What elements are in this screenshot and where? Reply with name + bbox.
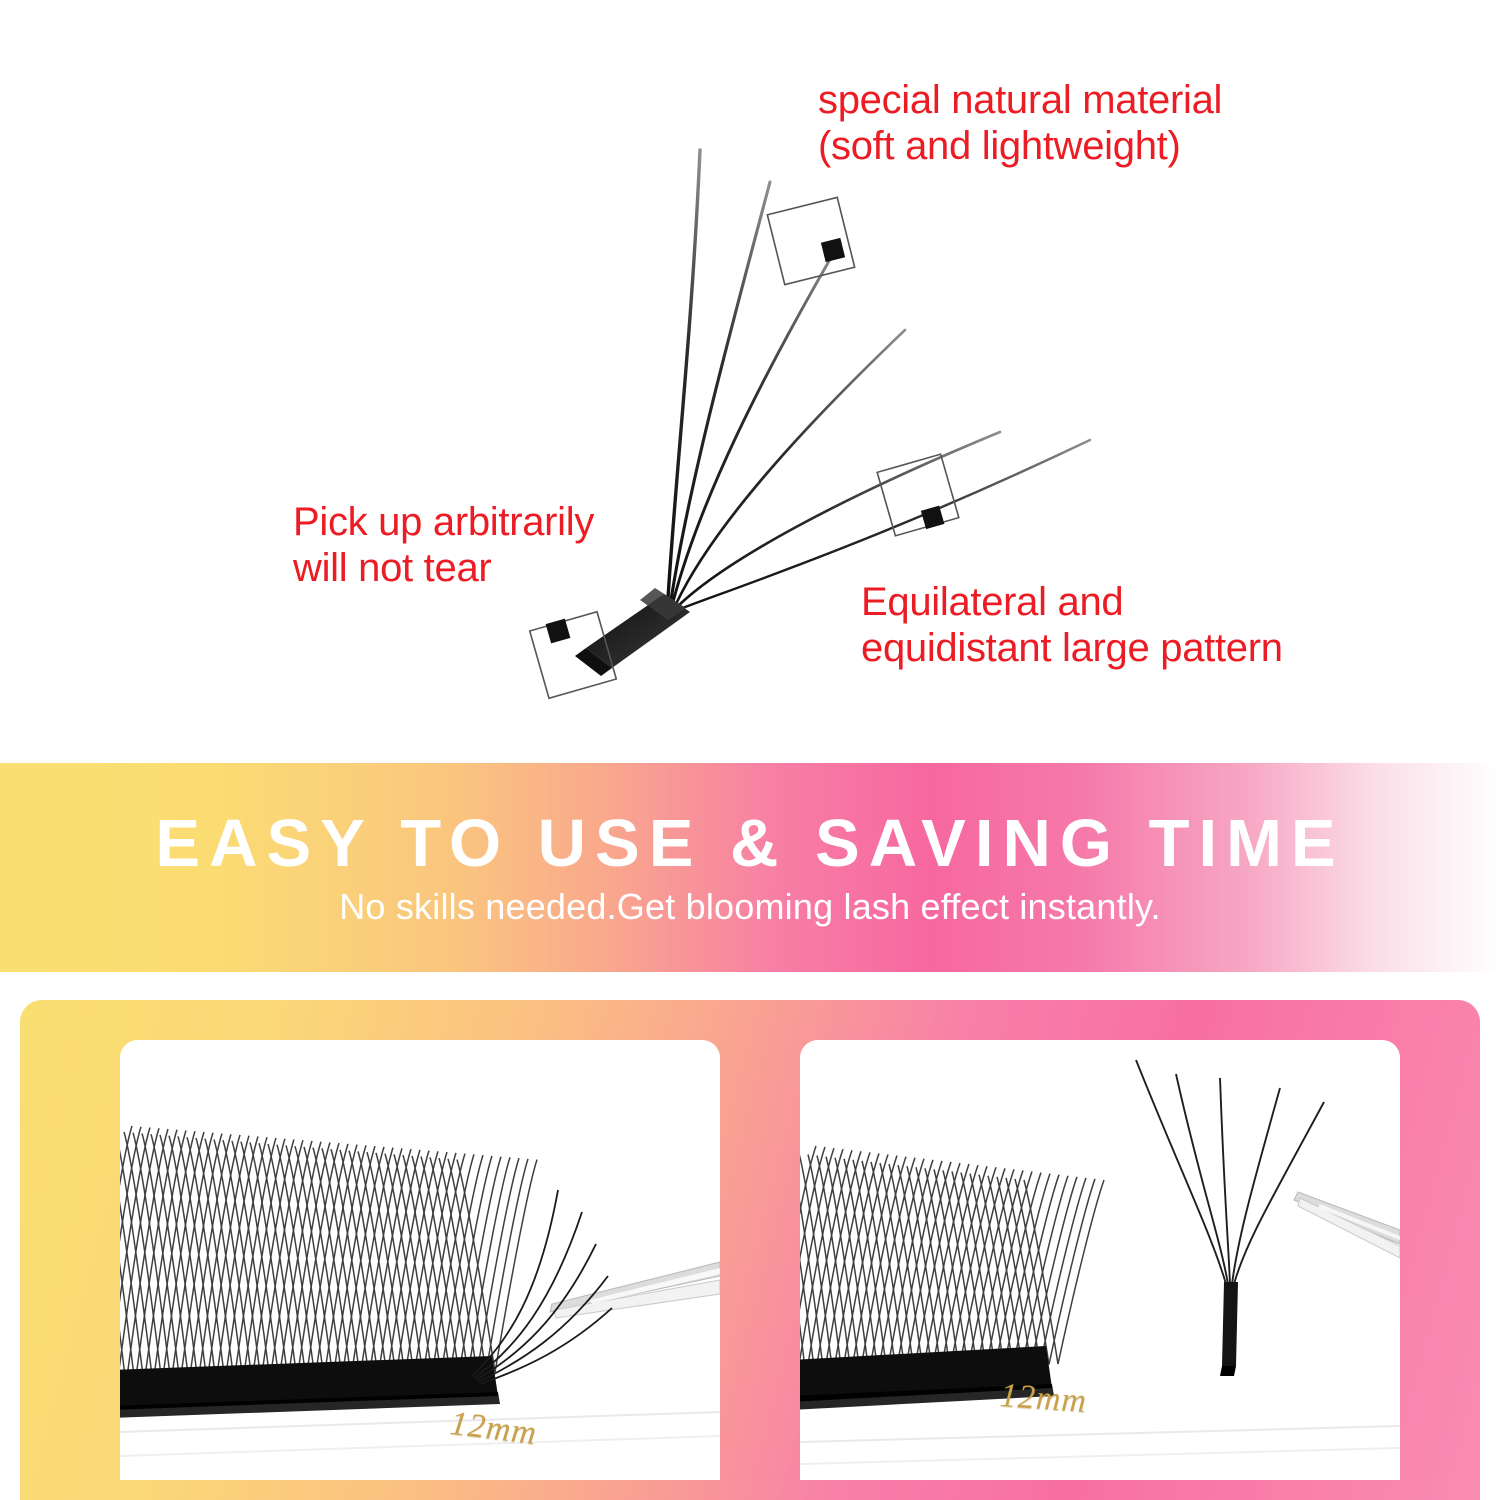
product-photos-section: 12mm (0, 972, 1500, 1500)
lash-tray-photo (120, 1040, 720, 1480)
banner-subtitle: No skills needed.Get blooming lash effec… (339, 889, 1161, 925)
callout-special-material: special natural material (soft and light… (818, 78, 1222, 169)
callout-pick-up: Pick up arbitrarily will not tear (293, 500, 594, 591)
size-label-right: 12mm (999, 1377, 1089, 1421)
callout-marker-top (767, 197, 854, 284)
lash-fan-pickup-photo (800, 1040, 1400, 1480)
photo-panel-lash-fan-pickup: 12mm (800, 1040, 1400, 1480)
photo-panel-lash-tray: 12mm (120, 1040, 720, 1480)
lash-fiber-4 (676, 330, 905, 604)
product-diagram-section: special natural material (soft and light… (0, 0, 1500, 763)
lash-fiber-2 (671, 182, 770, 600)
banner-title: EASY TO USE & SAVING TIME (155, 810, 1344, 877)
lash-fan-base (575, 588, 690, 676)
lash-fibers (668, 150, 1090, 609)
easy-to-use-banner: EASY TO USE & SAVING TIME No skills need… (0, 763, 1500, 972)
callout-equilateral: Equilateral and equidistant large patter… (861, 580, 1283, 671)
photo-frame: 12mm (20, 1000, 1480, 1500)
